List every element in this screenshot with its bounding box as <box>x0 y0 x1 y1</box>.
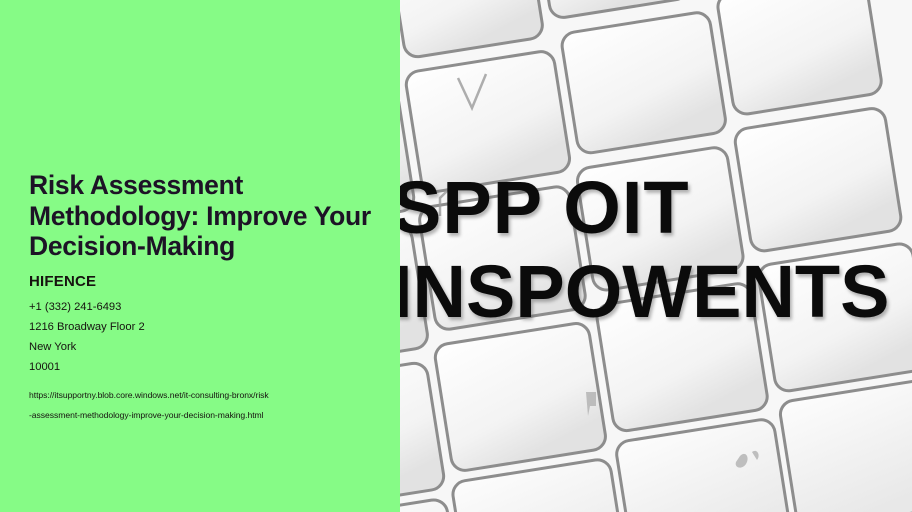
overlay-heading-line-1: SPP OIT <box>400 166 912 250</box>
overlay-heading: SPP OIT INSPOWENTS <box>400 166 912 334</box>
overlay-heading-line-2: INSPOWENTS <box>400 250 912 334</box>
contact-city: New York <box>29 337 381 357</box>
contact-street: 1216 Broadway Floor 2 <box>29 317 381 337</box>
info-block: Risk Assessment Methodology: Improve You… <box>29 170 381 425</box>
source-url[interactable]: https://itsupportny.blob.core.windows.ne… <box>29 385 381 425</box>
left-info-panel: Risk Assessment Methodology: Improve You… <box>0 0 400 512</box>
url-line-2: -assessment-methodology-improve-your-dec… <box>29 405 381 425</box>
contact-phone: +1 (332) 241-6493 <box>29 297 381 317</box>
contact-zip: 10001 <box>29 357 381 377</box>
right-image-panel: SPP OIT INSPOWENTS <box>400 0 912 512</box>
url-line-1: https://itsupportny.blob.core.windows.ne… <box>29 385 381 405</box>
poster-root: Risk Assessment Methodology: Improve You… <box>0 0 912 512</box>
organization-name: HIFENCE <box>29 273 381 290</box>
page-title: Risk Assessment Methodology: Improve You… <box>29 170 381 262</box>
